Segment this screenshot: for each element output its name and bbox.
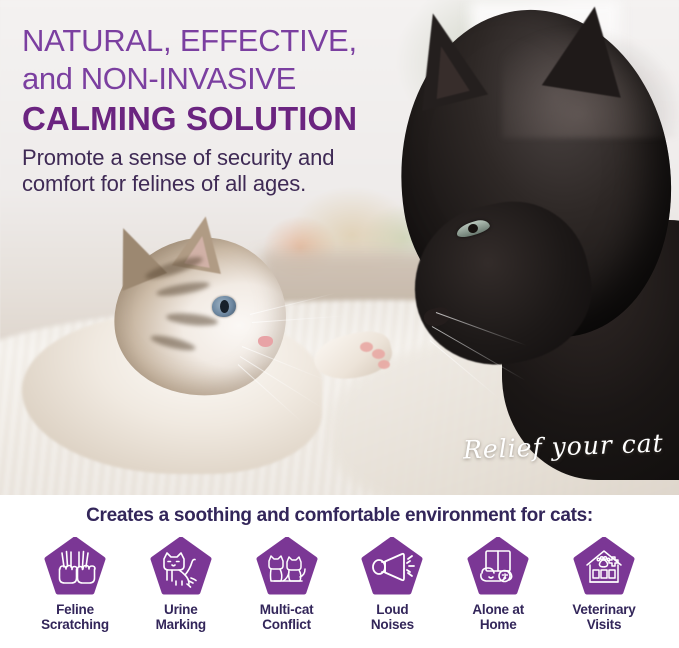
benefit-label-multi-cat-conflict: Multi-cat Conflict bbox=[260, 602, 314, 632]
benefit-item-alone-at-home: Alone at Home bbox=[447, 537, 549, 632]
kitten-toe-pad bbox=[360, 342, 373, 352]
label-line-1: Multi-cat bbox=[260, 602, 314, 617]
label-line-2: Marking bbox=[156, 617, 206, 632]
label-line-1: Veterinary bbox=[572, 602, 635, 617]
banner-title: Creates a soothing and comfortable envir… bbox=[0, 495, 679, 527]
kitten-eye bbox=[212, 296, 236, 317]
kitten-toe-pad bbox=[372, 349, 385, 359]
sub-headline-line-1: Promote a sense of security and bbox=[22, 145, 462, 171]
black-cat-ear-right bbox=[542, 0, 634, 97]
kitten-toe-pad bbox=[378, 360, 390, 369]
benefit-item-veterinary-visits: Veterinary Visits bbox=[553, 537, 655, 632]
label-line-2: Home bbox=[480, 617, 517, 632]
tabby-kitten bbox=[92, 218, 422, 468]
kitten-nose bbox=[258, 336, 273, 347]
label-line-1: Alone at bbox=[472, 602, 524, 617]
benefit-icon-row: Feline Scratching bbox=[0, 527, 679, 632]
benefits-banner: Creates a soothing and comfortable envir… bbox=[0, 495, 679, 648]
benefit-label-feline-scratching: Feline Scratching bbox=[41, 602, 109, 632]
benefit-label-urine-marking: Urine Marking bbox=[156, 602, 206, 632]
multi-cat-conflict-icon bbox=[256, 537, 318, 595]
benefit-item-loud-noises: Loud Noises bbox=[341, 537, 443, 632]
benefit-item-feline-scratching: Feline Scratching bbox=[24, 537, 126, 632]
product-marketing-image: NATURAL, EFFECTIVE, and NON-INVASIVE CAL… bbox=[0, 0, 679, 648]
label-line-2: Conflict bbox=[262, 617, 311, 632]
sub-headline-line-2: comfort for felines of all ages. bbox=[22, 171, 462, 197]
label-line-2: Scratching bbox=[41, 617, 109, 632]
benefit-item-urine-marking: Urine Marking bbox=[130, 537, 232, 632]
label-line-1: Loud bbox=[376, 602, 408, 617]
label-line-2: Noises bbox=[371, 617, 414, 632]
benefit-label-veterinary-visits: Veterinary Visits bbox=[572, 602, 635, 632]
benefit-label-loud-noises: Loud Noises bbox=[371, 602, 414, 632]
headline-block: NATURAL, EFFECTIVE, and NON-INVASIVE CAL… bbox=[22, 22, 462, 197]
sub-headline: Promote a sense of security and comfort … bbox=[22, 145, 462, 197]
benefit-label-alone-at-home: Alone at Home bbox=[472, 602, 524, 632]
headline-line-2: and NON-INVASIVE bbox=[22, 60, 462, 98]
headline-line-3-emphasis: CALMING SOLUTION bbox=[22, 98, 462, 139]
label-line-2: Visits bbox=[587, 617, 622, 632]
urine-marking-cat-icon bbox=[150, 537, 212, 595]
veterinary-clinic-icon bbox=[573, 537, 635, 595]
hero-photo: NATURAL, EFFECTIVE, and NON-INVASIVE CAL… bbox=[0, 0, 679, 495]
label-line-1: Urine bbox=[164, 602, 198, 617]
label-line-1: Feline bbox=[56, 602, 94, 617]
scratching-paws-icon bbox=[44, 537, 106, 595]
loud-noise-horn-icon bbox=[361, 537, 423, 595]
benefit-item-multi-cat-conflict: Multi-cat Conflict bbox=[236, 537, 338, 632]
alone-at-home-window-icon bbox=[467, 537, 529, 595]
headline-line-1: NATURAL, EFFECTIVE, bbox=[22, 22, 462, 60]
